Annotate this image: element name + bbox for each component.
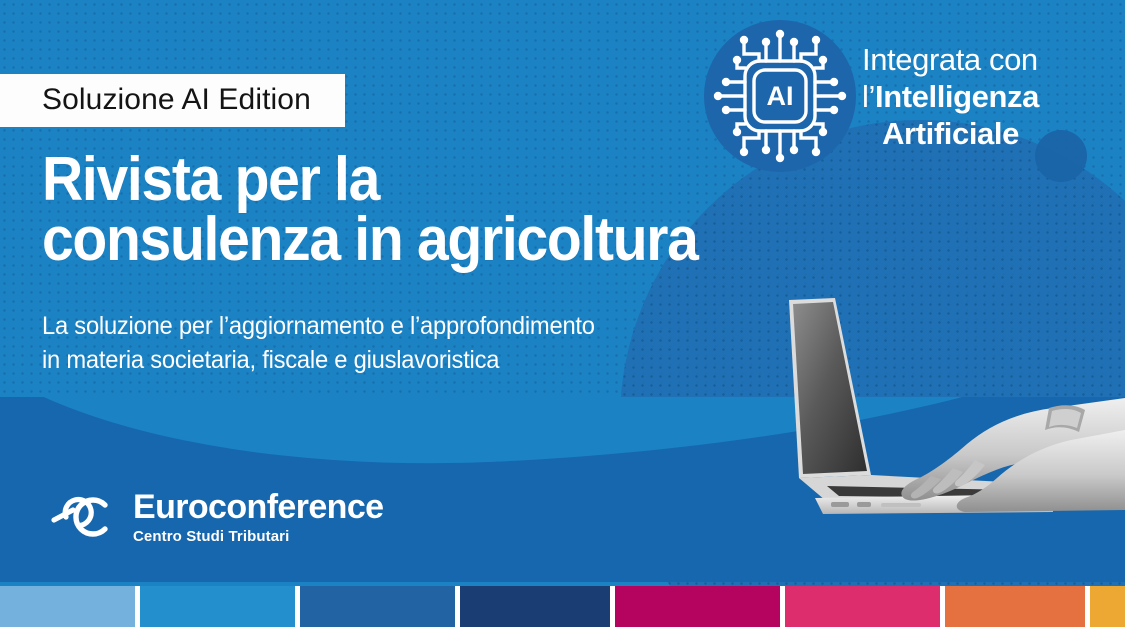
logo-name: Euroconference xyxy=(133,490,383,524)
stripe-block-amber xyxy=(1090,586,1125,627)
ai-callout-line-1: Integrata con xyxy=(862,41,1039,78)
subtitle-line-2: in materia societaria, fiscale e giuslav… xyxy=(42,343,595,377)
ec-monogram-icon xyxy=(42,491,118,543)
ai-chip-label: AI xyxy=(767,81,794,111)
decorative-small-circle xyxy=(1035,130,1087,182)
ai-callout-line-2-prefix: l’ xyxy=(862,79,875,114)
stripe-block-orange xyxy=(945,586,1085,627)
ai-callout-line-2-bold: Intelligenza xyxy=(875,79,1039,114)
euroconference-logo: Euroconference Centro Studi Tributari xyxy=(42,490,383,544)
edition-badge-label: Soluzione AI Edition xyxy=(42,83,311,116)
stripe-top-rule xyxy=(0,578,1125,582)
promo-banner: Soluzione AI Edition Rivista per la cons… xyxy=(0,0,1125,627)
ai-chip-icon: AI xyxy=(704,20,856,172)
headline-line-1: Rivista per la xyxy=(42,150,698,210)
ai-callout-line-2: l’Intelligenza xyxy=(862,78,1039,115)
stripe-block-magenta xyxy=(615,586,780,627)
subtitle-line-1: La soluzione per l’aggiornamento e l’app… xyxy=(42,309,595,343)
ai-callout-line-3: Artificiale xyxy=(862,115,1039,152)
stripe-block-light-blue xyxy=(0,586,135,627)
page-title: Rivista per la consulenza in agricoltura xyxy=(42,150,698,269)
ai-callout-text: Integrata con l’Intelligenza Artificiale xyxy=(862,41,1039,153)
stripe-block-bright-blue xyxy=(140,586,295,627)
logo-tagline: Centro Studi Tributari xyxy=(133,529,383,544)
headline-line-2: consulenza in agricoltura xyxy=(42,210,698,270)
stripe-block-medium-blue xyxy=(300,586,455,627)
stripe-block-pink xyxy=(785,586,940,627)
stripe-block-navy-blue xyxy=(460,586,610,627)
laptop-hands-photo xyxy=(753,280,1125,532)
subtitle: La soluzione per l’aggiornamento e l’app… xyxy=(42,309,595,377)
edition-badge: Soluzione AI Edition xyxy=(0,74,345,127)
color-stripe xyxy=(0,586,1125,627)
